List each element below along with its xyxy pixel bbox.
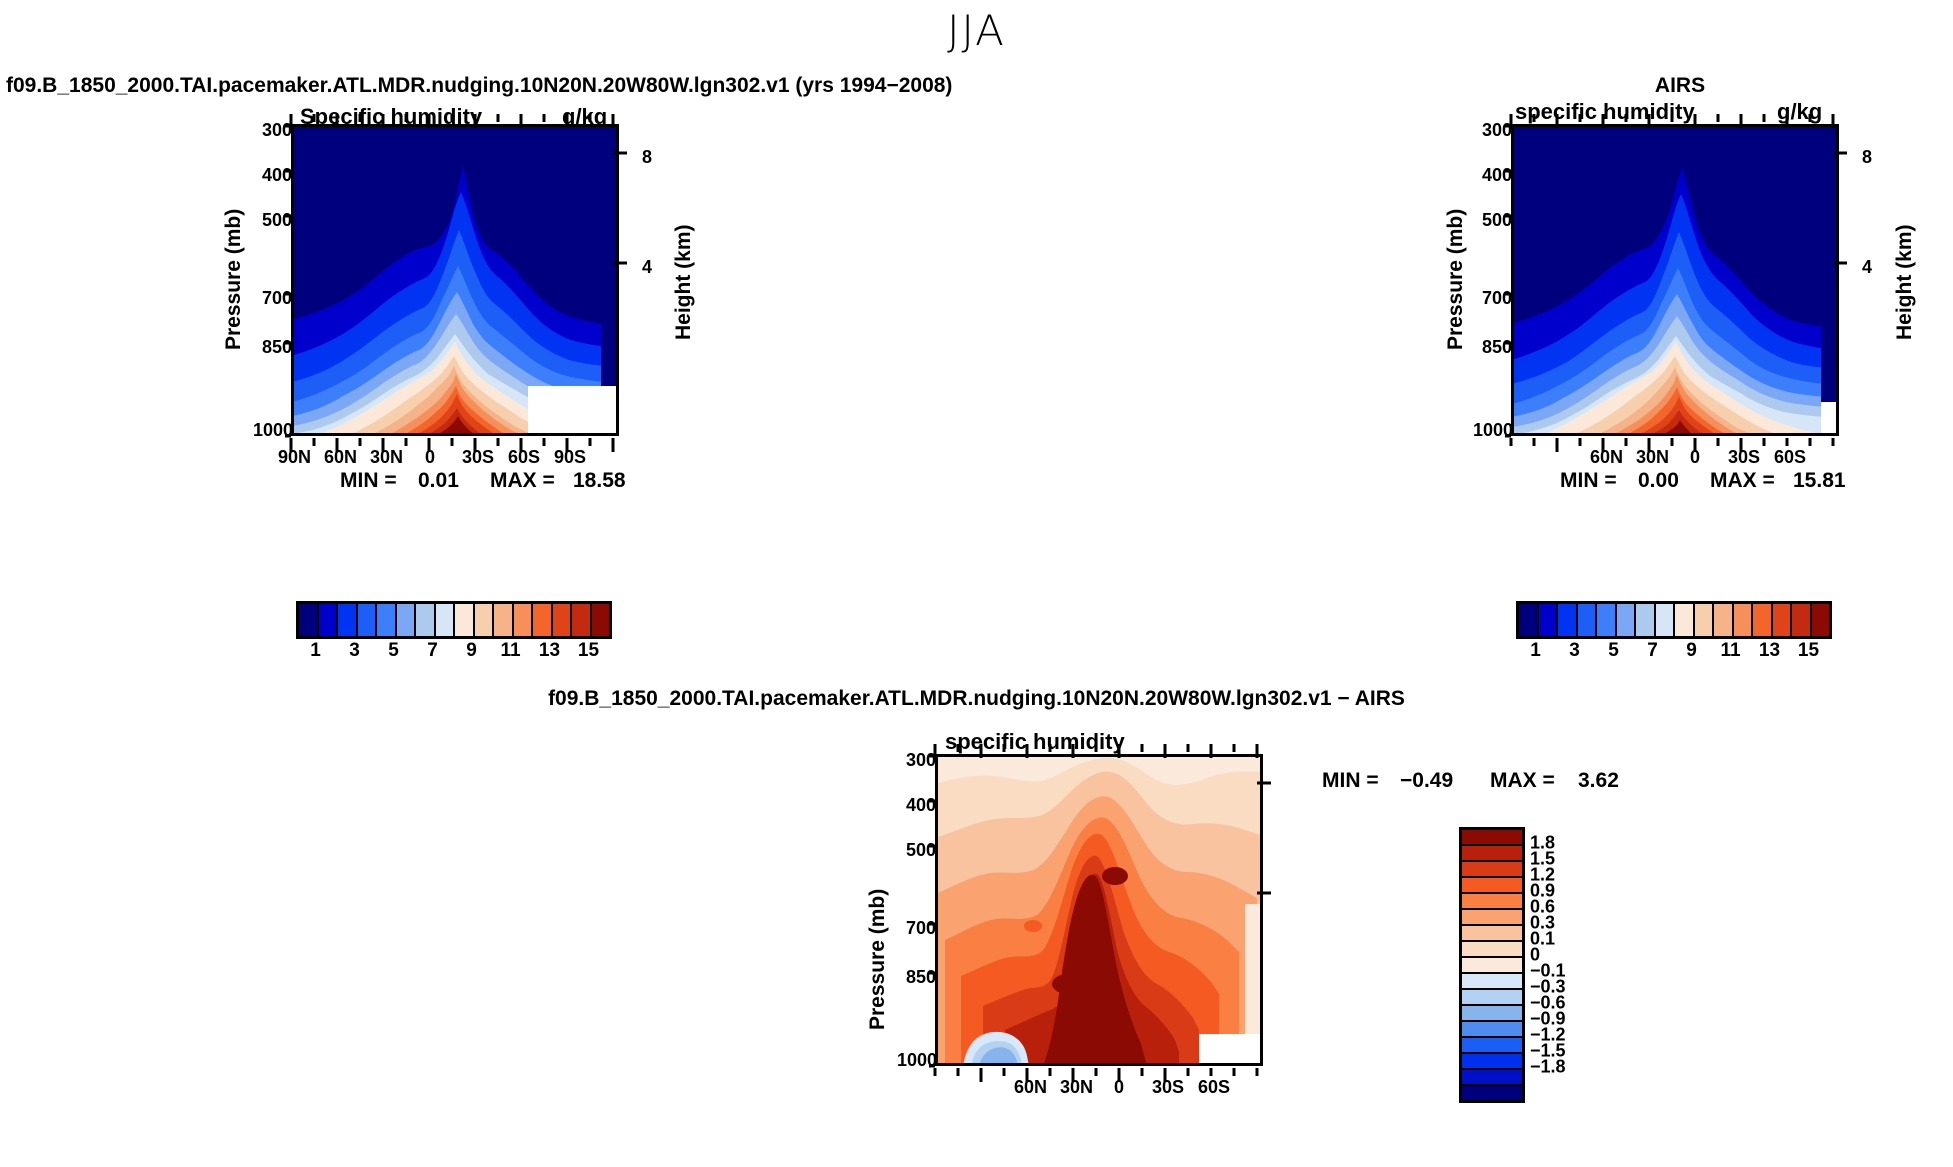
obs-colorbar-swatch-13[interactable] — [1772, 603, 1792, 637]
obs-colorbar-swatch-4[interactable] — [1596, 603, 1616, 637]
difference-xtick-60N: 60N — [1014, 1077, 1047, 1098]
model-colorbar-swatch-0[interactable] — [298, 603, 318, 637]
obs-xtick-60S: 60S — [1774, 447, 1806, 468]
difference-max-label: MAX = — [1490, 769, 1555, 793]
obs-max-value: 15.81 — [1793, 469, 1846, 493]
obs-axis-ticks — [1505, 112, 1847, 452]
model-y2tick-4: 4 — [642, 257, 652, 278]
obs-colorbar-tick-5: 5 — [1608, 640, 1619, 662]
obs-colorbar-tick-15: 15 — [1798, 640, 1819, 662]
difference-min-label: MIN = — [1322, 769, 1379, 793]
obs-colorbar-swatch-15[interactable] — [1811, 603, 1831, 637]
obs-y-axis-label: Pressure (mb) — [1444, 209, 1468, 350]
model-xtick-60S: 60S — [508, 447, 540, 468]
difference-colorbar-swatch-6[interactable] — [1461, 925, 1523, 941]
obs-y2tick-8: 8 — [1862, 147, 1872, 168]
model-xtick-90N: 90N — [278, 447, 311, 468]
obs-colorbar-labels: 13579111315 — [1516, 640, 1828, 666]
obs-colorbar-swatch-5[interactable] — [1616, 603, 1636, 637]
difference-colorbar-swatch-8[interactable] — [1461, 957, 1523, 973]
difference-min-value: −0.49 — [1400, 769, 1453, 793]
model-colorbar-tick-3: 3 — [349, 640, 360, 662]
difference-colorbar-swatch-16[interactable] — [1461, 1085, 1523, 1101]
obs-xtick-60N: 60N — [1590, 447, 1623, 468]
page-title: JJA — [0, 6, 1953, 55]
difference-colorbar-swatch-9[interactable] — [1461, 973, 1523, 989]
obs-y2tick-4: 4 — [1862, 257, 1872, 278]
obs-colorbar-swatch-10[interactable] — [1713, 603, 1733, 637]
obs-xtick-0: 0 — [1690, 447, 1700, 468]
obs-colorbar-swatch-6[interactable] — [1635, 603, 1655, 637]
model-colorbar-tick-11: 11 — [500, 640, 520, 662]
model-colorbar-swatch-11[interactable] — [513, 603, 533, 637]
model-colorbar-tick-1: 1 — [310, 640, 321, 662]
model-colorbar-tick-5: 5 — [388, 640, 399, 662]
difference-colorbar-swatch-11[interactable] — [1461, 1005, 1523, 1021]
model-colorbar-swatch-2[interactable] — [337, 603, 357, 637]
difference-axis-ticks — [929, 742, 1271, 1082]
obs-colorbar-swatch-14[interactable] — [1791, 603, 1811, 637]
obs-colorbar[interactable] — [1516, 601, 1832, 639]
obs-colorbar-tick-1: 1 — [1530, 640, 1541, 662]
model-xtick-30N: 30N — [370, 447, 403, 468]
model-panel-title: f09.B_1850_2000.TAI.pacemaker.ATL.MDR.nu… — [6, 74, 952, 98]
difference-xtick-60S: 60S — [1198, 1077, 1230, 1098]
difference-xtick-0: 0 — [1114, 1077, 1124, 1098]
model-colorbar-swatch-5[interactable] — [396, 603, 416, 637]
obs-colorbar-swatch-7[interactable] — [1655, 603, 1675, 637]
model-xtick-60N: 60N — [324, 447, 357, 468]
obs-colorbar-swatch-11[interactable] — [1733, 603, 1753, 637]
model-colorbar-swatch-1[interactable] — [318, 603, 338, 637]
model-colorbar-tick-9: 9 — [466, 640, 477, 662]
model-colorbar-labels: 13579111315 — [296, 640, 608, 666]
difference-colorbar-swatch-10[interactable] — [1461, 989, 1523, 1005]
obs-colorbar-tick-11: 11 — [1720, 640, 1740, 662]
difference-colorbar-labels: 1.81.51.20.90.60.30.10−0.1−0.3−0.6−0.9−1… — [1530, 827, 1620, 1099]
model-colorbar-tick-7: 7 — [427, 640, 438, 662]
obs-y2-axis-label: Height (km) — [1893, 225, 1917, 341]
difference-colorbar-swatch-13[interactable] — [1461, 1037, 1523, 1053]
obs-colorbar-swatch-8[interactable] — [1674, 603, 1694, 637]
model-colorbar-swatch-7[interactable] — [435, 603, 455, 637]
difference-max-value: 3.62 — [1578, 769, 1619, 793]
difference-colorbar-swatch-15[interactable] — [1461, 1069, 1523, 1085]
obs-colorbar-swatch-3[interactable] — [1577, 603, 1597, 637]
model-y2-axis-label: Height (km) — [672, 225, 696, 341]
model-colorbar[interactable] — [296, 601, 612, 639]
difference-colorbar-swatch-3[interactable] — [1461, 877, 1523, 893]
model-xtick-30S: 30S — [462, 447, 494, 468]
difference-colorbar-swatch-0[interactable] — [1461, 829, 1523, 845]
model-min-value: 0.01 — [418, 469, 459, 493]
model-colorbar-tick-15: 15 — [578, 640, 599, 662]
difference-colorbar[interactable] — [1459, 827, 1525, 1103]
model-colorbar-swatch-10[interactable] — [493, 603, 513, 637]
model-colorbar-swatch-13[interactable] — [552, 603, 572, 637]
model-colorbar-swatch-9[interactable] — [474, 603, 494, 637]
difference-colorbar-swatch-7[interactable] — [1461, 941, 1523, 957]
model-max-label: MAX = — [490, 469, 555, 493]
model-colorbar-swatch-6[interactable] — [415, 603, 435, 637]
model-colorbar-swatch-12[interactable] — [532, 603, 552, 637]
model-y2tick-8: 8 — [642, 147, 652, 168]
difference-colorbar-swatch-12[interactable] — [1461, 1021, 1523, 1037]
difference-y-axis-label: Pressure (mb) — [866, 889, 890, 1030]
model-xtick-90S: 90S — [554, 447, 586, 468]
obs-xtick-30N: 30N — [1636, 447, 1669, 468]
difference-colorbar-swatch-1[interactable] — [1461, 845, 1523, 861]
obs-min-value: 0.00 — [1638, 469, 1679, 493]
obs-colorbar-tick-13: 13 — [1759, 640, 1780, 662]
obs-colorbar-tick-9: 9 — [1686, 640, 1697, 662]
difference-colorbar-swatch-2[interactable] — [1461, 861, 1523, 877]
difference-xtick-30N: 30N — [1060, 1077, 1093, 1098]
difference-colorbar-tick-14: −1.8 — [1530, 1057, 1566, 1078]
model-colorbar-swatch-3[interactable] — [357, 603, 377, 637]
obs-colorbar-swatch-2[interactable] — [1557, 603, 1577, 637]
obs-min-label: MIN = — [1560, 469, 1617, 493]
obs-colorbar-swatch-1[interactable] — [1538, 603, 1558, 637]
obs-colorbar-swatch-9[interactable] — [1694, 603, 1714, 637]
model-min-label: MIN = — [340, 469, 397, 493]
obs-colorbar-tick-3: 3 — [1569, 640, 1580, 662]
obs-colorbar-swatch-0[interactable] — [1518, 603, 1538, 637]
obs-colorbar-swatch-12[interactable] — [1752, 603, 1772, 637]
model-colorbar-swatch-15[interactable] — [591, 603, 611, 637]
model-colorbar-swatch-8[interactable] — [454, 603, 474, 637]
difference-colorbar-swatch-14[interactable] — [1461, 1053, 1523, 1069]
model-colorbar-tick-13: 13 — [539, 640, 560, 662]
model-y-axis-label: Pressure (mb) — [222, 209, 246, 350]
difference-panel-title: f09.B_1850_2000.TAI.pacemaker.ATL.MDR.nu… — [0, 687, 1953, 711]
model-colorbar-swatch-4[interactable] — [376, 603, 396, 637]
model-axis-ticks — [285, 112, 627, 452]
model-colorbar-swatch-14[interactable] — [571, 603, 591, 637]
obs-xtick-30S: 30S — [1728, 447, 1760, 468]
model-max-value: 18.58 — [573, 469, 626, 493]
difference-colorbar-swatch-5[interactable] — [1461, 909, 1523, 925]
obs-colorbar-tick-7: 7 — [1647, 640, 1658, 662]
obs-panel-title: AIRS — [1530, 74, 1830, 98]
difference-xtick-30S: 30S — [1152, 1077, 1184, 1098]
model-xtick-0: 0 — [425, 447, 435, 468]
obs-max-label: MAX = — [1710, 469, 1775, 493]
difference-colorbar-swatch-4[interactable] — [1461, 893, 1523, 909]
